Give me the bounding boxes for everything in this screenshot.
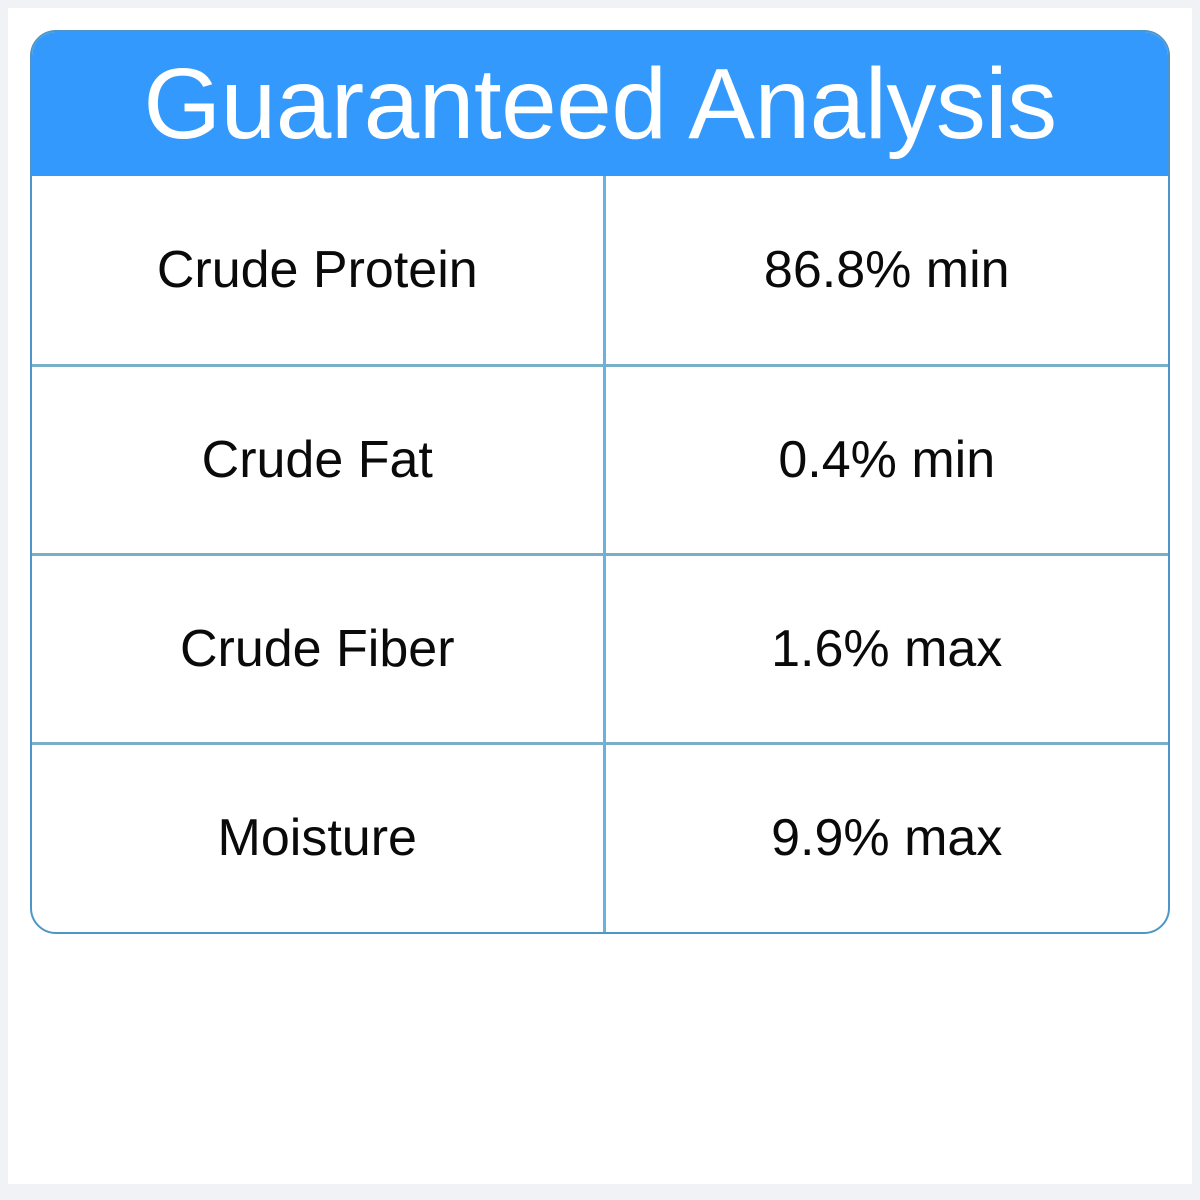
- nutrient-guarantee-cell: 0.4% min: [604, 365, 1168, 554]
- nutrient-guarantee-cell: 86.8% min: [604, 176, 1168, 365]
- card-header: Guaranteed Analysis: [32, 32, 1168, 176]
- nutrient-name-cell: Crude Fat: [32, 365, 604, 554]
- guaranteed-analysis-card: Guaranteed Analysis Crude Protein 86.8% …: [30, 30, 1170, 934]
- nutrient-name-cell: Moisture: [32, 743, 604, 932]
- guaranteed-analysis-table: Crude Protein 86.8% min Crude Fat 0.4% m…: [32, 176, 1168, 932]
- table-row: Moisture 9.9% max: [32, 743, 1168, 932]
- nutrient-name-cell: Crude Fiber: [32, 554, 604, 743]
- nutrient-guarantee-cell: 1.6% max: [604, 554, 1168, 743]
- table-row: Crude Fiber 1.6% max: [32, 554, 1168, 743]
- page-title: Guaranteed Analysis: [143, 54, 1056, 154]
- page-surface: Guaranteed Analysis Crude Protein 86.8% …: [8, 8, 1192, 1184]
- table-row: Crude Fat 0.4% min: [32, 365, 1168, 554]
- nutrient-name-cell: Crude Protein: [32, 176, 604, 365]
- nutrient-guarantee-cell: 9.9% max: [604, 743, 1168, 932]
- table-row: Crude Protein 86.8% min: [32, 176, 1168, 365]
